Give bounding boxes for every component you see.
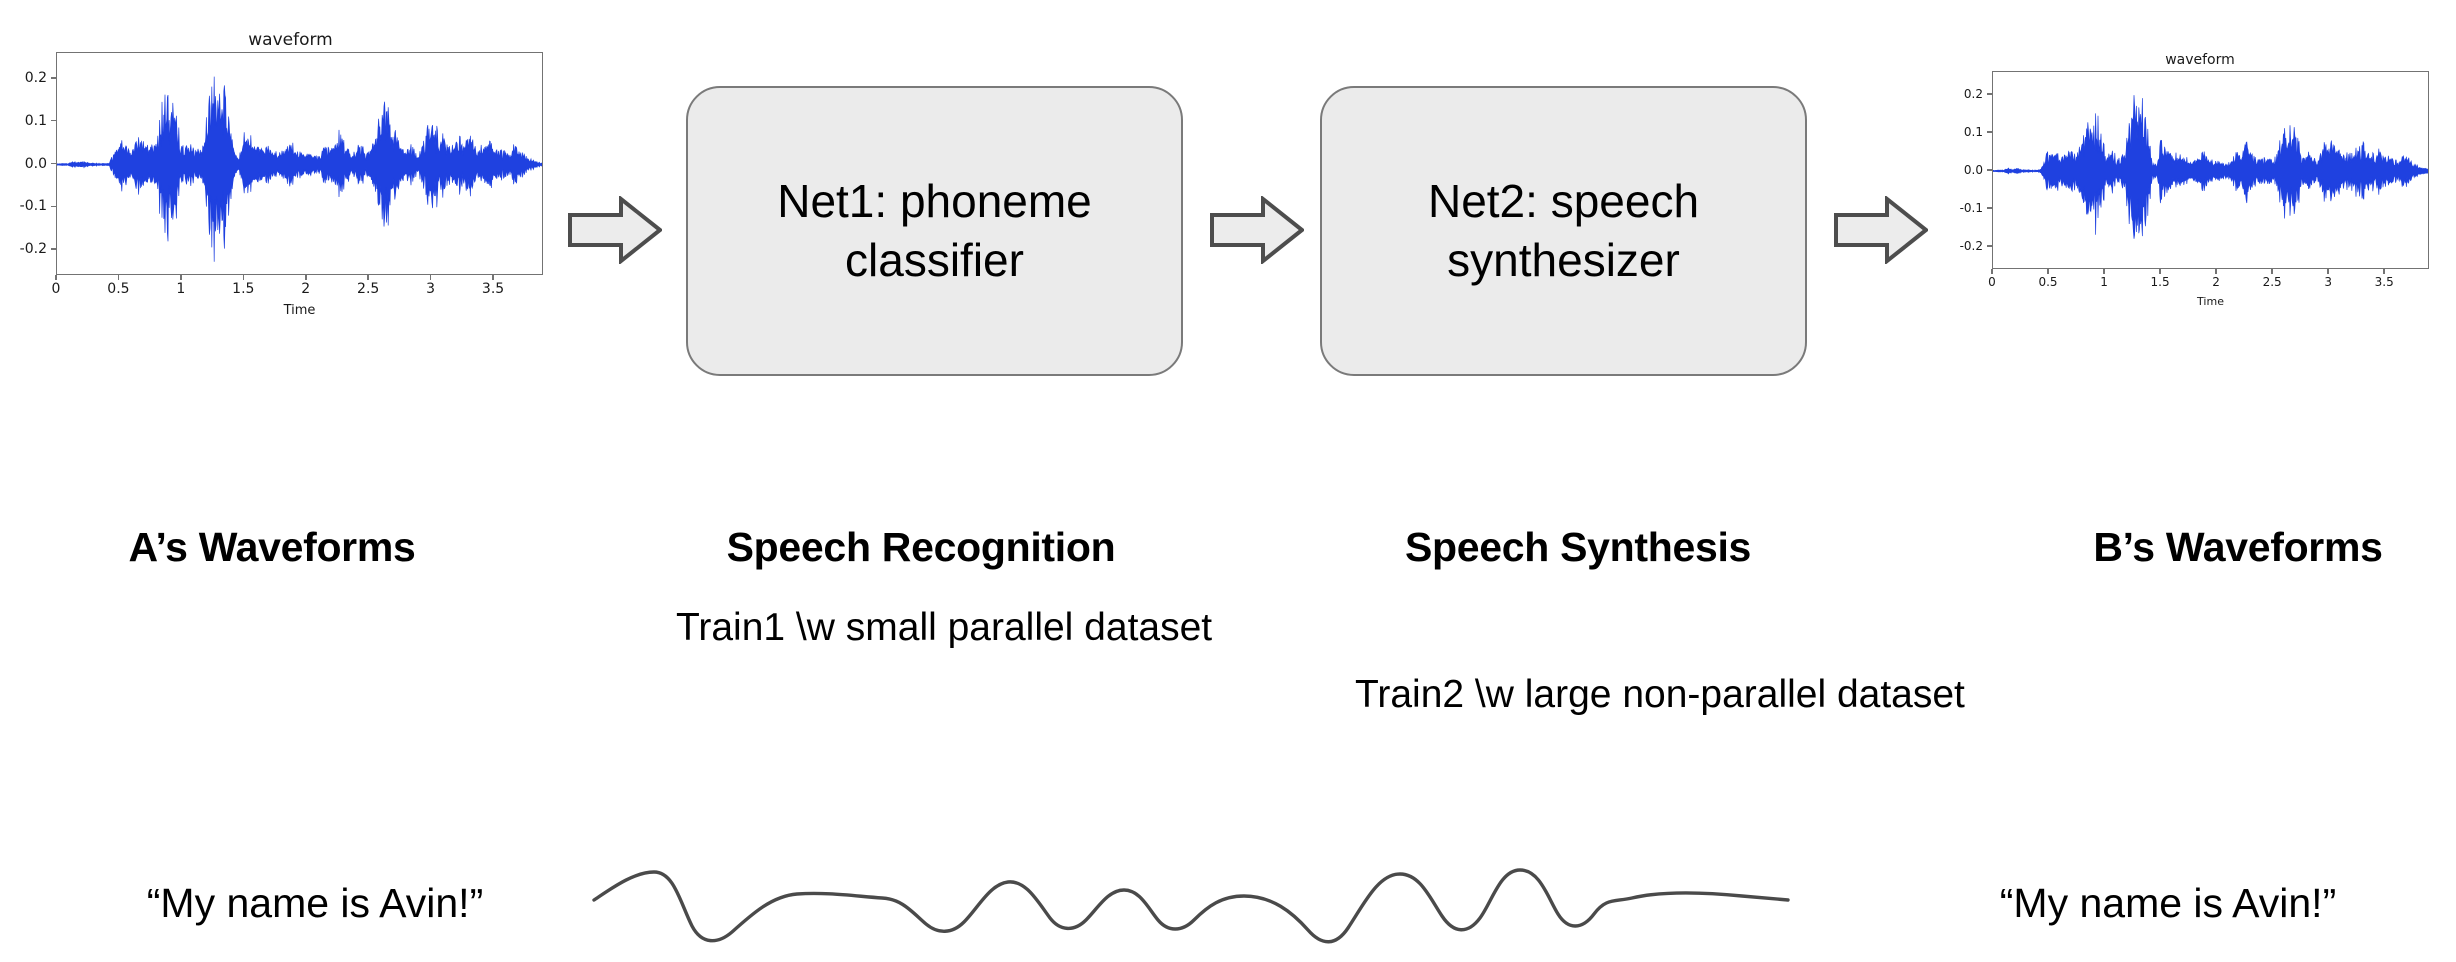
plot-frame-a <box>56 52 543 275</box>
y-tick-label: 0.0 <box>25 156 47 172</box>
caption-b-waveforms: B’s Waveforms <box>2093 524 2382 571</box>
speech-squiggle-icon <box>592 840 1892 950</box>
plot-frame-b <box>1992 71 2429 269</box>
x-tick-label: 1 <box>2100 275 2108 289</box>
y-tick-mark <box>51 77 56 79</box>
x-tick-mark <box>2383 269 2385 274</box>
caption-speech-synthesis: Speech Synthesis <box>1405 524 1751 571</box>
net1-box-label: Net1: phoneme classifier <box>714 172 1155 290</box>
y-tick-label: -0.2 <box>1960 239 1983 253</box>
caption-speech-recognition: Speech Recognition <box>727 524 1116 571</box>
speech-squiggle <box>592 840 1892 950</box>
x-tick-mark <box>492 275 494 280</box>
x-tick-label: 1.5 <box>2151 275 2170 289</box>
right-block-arrow-icon <box>568 196 662 264</box>
x-tick-label: 1.5 <box>232 281 254 297</box>
net2-box-label: Net2: speech synthesizer <box>1348 172 1779 290</box>
x-tick-mark <box>2271 269 2273 274</box>
x-tick-label: 1 <box>176 281 185 297</box>
flow-arrow-3 <box>1834 196 1928 264</box>
x-tick-mark <box>2327 269 2329 274</box>
x-tick-mark <box>2047 269 2049 274</box>
y-tick-label: -0.1 <box>1960 201 1983 215</box>
x-tick-mark <box>2103 269 2105 274</box>
y-tick-label: 0.0 <box>1964 163 1983 177</box>
waveform-trace <box>57 53 543 275</box>
y-tick-label: 0.2 <box>1964 87 1983 101</box>
x-tick-label: 3.5 <box>482 281 504 297</box>
net1-box[interactable]: Net1: phoneme classifier <box>686 86 1183 376</box>
x-tick-mark <box>2215 269 2217 274</box>
x-axis-label: Time <box>2197 295 2224 308</box>
y-tick-mark <box>1987 131 1992 133</box>
x-axis-label: Time <box>284 303 316 318</box>
y-tick-label: 0.1 <box>1964 125 1983 139</box>
y-tick-mark <box>51 206 56 208</box>
train1-label: Train1 \w small parallel dataset <box>676 606 1212 650</box>
x-tick-label: 3 <box>2324 275 2332 289</box>
waveform-plot-b: waveform 0.20.10.0-0.1-0.200.511.522.533… <box>1958 52 2442 282</box>
y-tick-mark <box>1987 207 1992 209</box>
y-tick-mark <box>51 163 56 165</box>
x-tick-label: 3 <box>426 281 435 297</box>
plot-title-a: waveform <box>18 30 563 50</box>
x-tick-label: 0.5 <box>2038 275 2057 289</box>
x-tick-mark <box>1991 269 1993 274</box>
quote-right: “My name is Avin!” <box>2000 880 2336 927</box>
x-tick-label: 2 <box>301 281 310 297</box>
y-tick-mark <box>1987 93 1992 95</box>
x-tick-label: 0.5 <box>107 281 129 297</box>
x-tick-mark <box>2159 269 2161 274</box>
right-block-arrow-icon <box>1834 196 1928 264</box>
x-tick-label: 0 <box>52 281 61 297</box>
y-tick-mark <box>1987 169 1992 171</box>
train2-label: Train2 \w large non-parallel dataset <box>1355 673 1965 717</box>
x-tick-mark <box>305 275 307 280</box>
y-tick-mark <box>51 120 56 122</box>
x-tick-label: 3.5 <box>2375 275 2394 289</box>
net2-box[interactable]: Net2: speech synthesizer <box>1320 86 1807 376</box>
flow-arrow-2 <box>1210 196 1304 264</box>
waveform-plot-a: waveform 0.20.10.0-0.1-0.200.511.522.533… <box>18 30 563 290</box>
quote-left: “My name is Avin!” <box>147 880 483 927</box>
x-tick-label: 2.5 <box>2263 275 2282 289</box>
caption-a-waveforms: A’s Waveforms <box>128 524 415 571</box>
y-tick-mark <box>1987 245 1992 247</box>
x-tick-label: 0 <box>1988 275 1996 289</box>
x-tick-mark <box>367 275 369 280</box>
x-tick-label: 2 <box>2212 275 2220 289</box>
figure-canvas: waveform 0.20.10.0-0.1-0.200.511.522.533… <box>0 0 2456 962</box>
x-tick-label: 2.5 <box>357 281 379 297</box>
x-tick-mark <box>180 275 182 280</box>
waveform-trace <box>1993 72 2429 269</box>
y-tick-mark <box>51 248 56 250</box>
x-tick-mark <box>55 275 57 280</box>
right-block-arrow-icon <box>1210 196 1304 264</box>
x-tick-mark <box>118 275 120 280</box>
y-tick-label: -0.1 <box>20 198 47 214</box>
x-tick-mark <box>430 275 432 280</box>
x-tick-mark <box>243 275 245 280</box>
y-tick-label: -0.2 <box>20 241 47 257</box>
flow-arrow-1 <box>568 196 662 264</box>
y-tick-label: 0.1 <box>25 113 47 129</box>
plot-title-b: waveform <box>1958 52 2442 68</box>
y-tick-label: 0.2 <box>25 70 47 86</box>
